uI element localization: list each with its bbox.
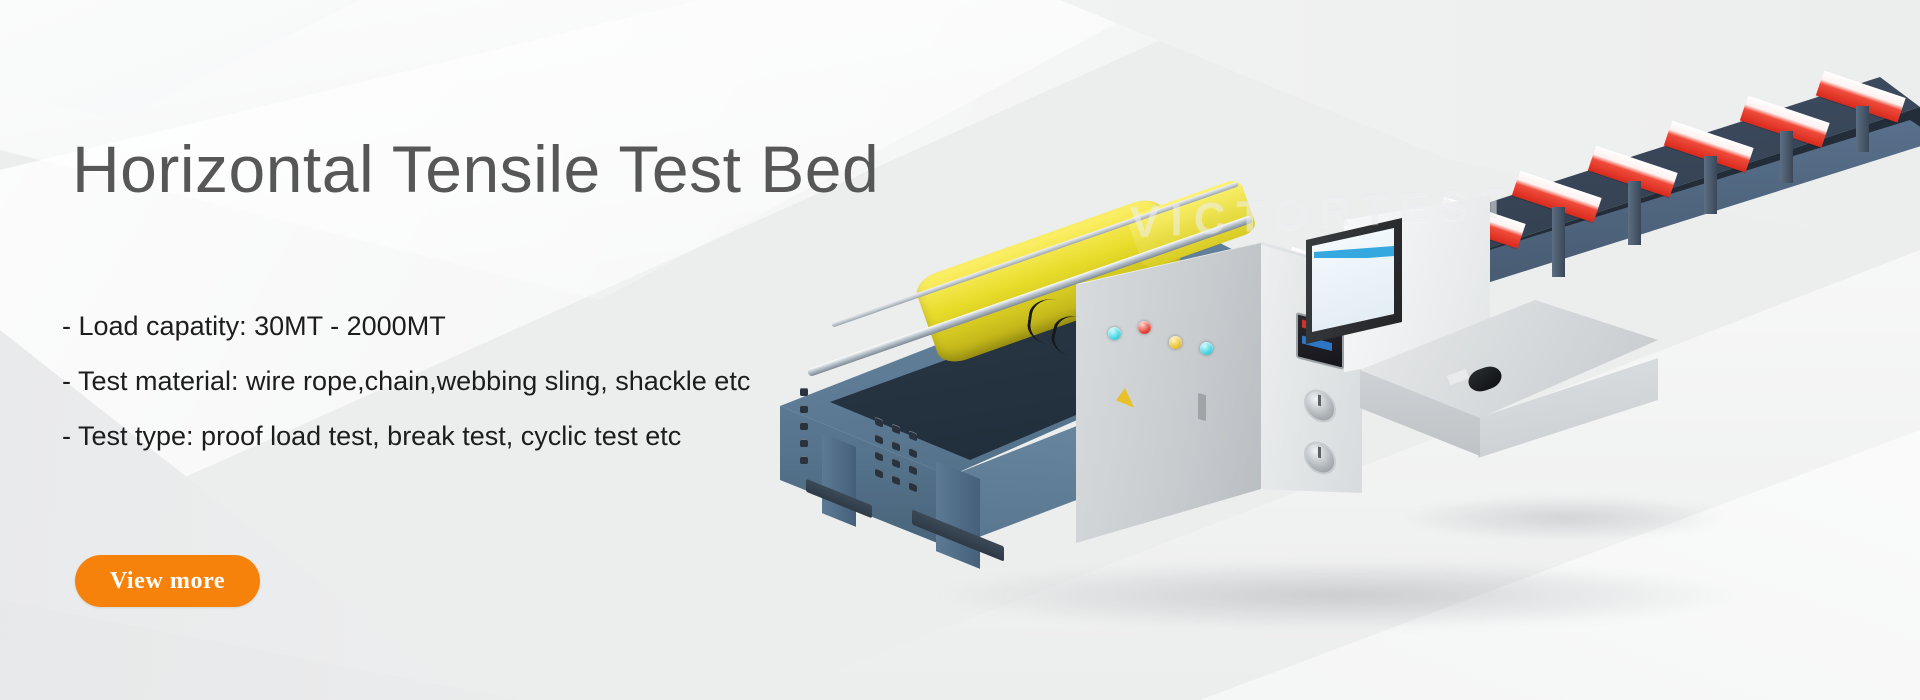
rail-support-post: [1780, 131, 1793, 183]
bolt: [892, 457, 900, 468]
indicator-light-yellow[interactable]: [1169, 336, 1182, 349]
view-more-button[interactable]: View more: [75, 555, 260, 607]
rail-support-post: [1856, 106, 1869, 152]
rail-support-post: [1552, 207, 1565, 277]
base-leg-right: [936, 461, 980, 569]
hero-banner: VICTORTEST Horizontal Tensile Test Bed -…: [0, 0, 1920, 700]
indicator-light-cyan-1[interactable]: [1108, 327, 1121, 340]
rail-support-post: [1704, 156, 1717, 214]
indicator-light-cyan-2[interactable]: [1200, 342, 1213, 355]
feature-item-test-material: - Test material: wire rope,chain,webbing…: [62, 368, 750, 395]
base-leg-left: [822, 433, 856, 527]
page-title: Horizontal Tensile Test Bed: [72, 136, 879, 202]
bolt: [892, 440, 900, 451]
feature-item-load-capacity: - Load capatity: 30MT - 2000MT: [62, 313, 750, 340]
bolt: [909, 464, 917, 475]
machine-illustration: VICTORTEST: [760, 0, 1920, 700]
cabinet-vent-slot: [1198, 393, 1206, 421]
bolt: [909, 447, 917, 458]
bolt: [800, 422, 808, 430]
bolt: [800, 405, 808, 413]
bolt: [800, 439, 808, 447]
feature-list: - Load capatity: 30MT - 2000MT - Test ma…: [62, 313, 750, 478]
bolt: [800, 456, 808, 464]
bolt: [875, 434, 883, 445]
rail-support-post: [1628, 181, 1641, 245]
bolt: [800, 388, 808, 396]
bolt-array-left: [800, 388, 808, 464]
feature-item-test-type: - Test type: proof load test, break test…: [62, 423, 750, 450]
bolt: [875, 451, 883, 462]
indicator-light-red[interactable]: [1138, 321, 1151, 334]
